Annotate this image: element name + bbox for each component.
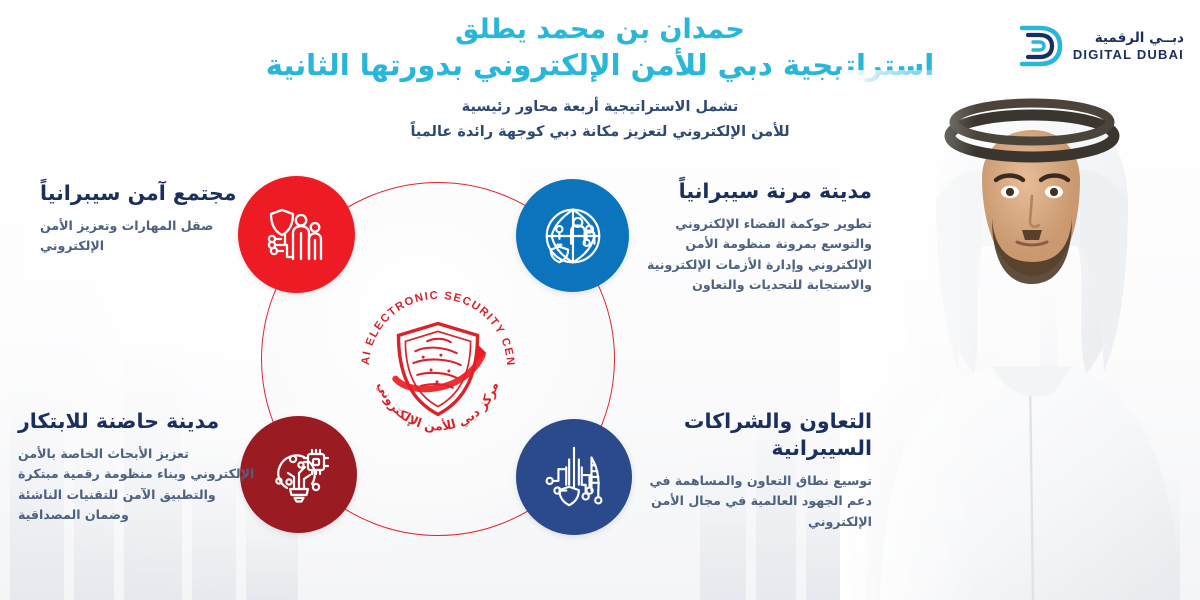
pillar-body: صقل المهارات وتعزيز الأمن الإلكتروني [40, 216, 255, 257]
shield-people-circuit-icon [261, 199, 333, 271]
pillar-title: مدينة مرنة سيبرانياً [636, 178, 872, 205]
pillar-title: مدينة حاضنة للابتكار [18, 408, 256, 435]
pillar-text-cyber-resilient-city: مدينة مرنة سيبرانياً تطوير حوكمة الفضاء … [636, 178, 872, 296]
pillar-body: تعزيز الأبحاث الخاصة بالأمن الإلكتروني و… [18, 444, 256, 526]
pillar-text-cyber-collaboration-partnerships: التعاون والشراكات السيبرانية توسيع نطاق … [636, 408, 872, 532]
pillar-node-secure-cyber-society[interactable] [238, 176, 355, 293]
desc-shield-emblem-icon: DUBAI ELECTRONIC SECURITY CENTER مركز دب… [354, 284, 522, 452]
pillar-body: توسيع نطاق التعاون والمساهمة في دعم الجه… [636, 471, 872, 532]
pillar-node-cyber-resilient-city[interactable] [516, 179, 629, 292]
logo-english-text: DIGITAL DUBAI [1073, 48, 1184, 62]
logo-wordmark: دبــي الرقمية DIGITAL DUBAI [1073, 31, 1184, 62]
pillar-text-innovation-incubating-city: مدينة حاضنة للابتكار تعزيز الأبحاث الخاص… [18, 408, 256, 526]
infographic-canvas: حمدان بن محمد يطلق استراتيجية دبي للأمن … [0, 0, 1200, 600]
pillar-title: التعاون والشراكات السيبرانية [636, 408, 872, 462]
pillar-title: مجتمع آمن سيبرانياً [40, 180, 255, 207]
digital-dubai-logo[interactable]: دبــي الرقمية DIGITAL DUBAI [1012, 22, 1184, 70]
pillar-body: تطوير حوكمة الفضاء الإلكتروني والتوسع بم… [636, 214, 872, 296]
lightbulb-chip-innovation-icon [263, 439, 335, 511]
dubai-skyline-circuit-shield-icon [539, 442, 609, 512]
strategy-wheel: DUBAI ELECTRONIC SECURITY CENTER مركز دب… [238, 176, 653, 566]
pillar-node-cyber-collaboration-partnerships[interactable] [516, 419, 632, 535]
pillar-text-secure-cyber-society: مجتمع آمن سيبرانياً صقل المهارات وتعزيز … [40, 180, 255, 257]
sheikh-hamdan-portrait-image [840, 70, 1200, 600]
logo-arabic-text: دبــي الرقمية [1073, 31, 1184, 45]
pillar-node-innovation-incubating-city[interactable] [240, 416, 357, 533]
digital-dubai-d-monogram-icon [1012, 22, 1064, 70]
globe-people-shield-icon [538, 201, 608, 271]
